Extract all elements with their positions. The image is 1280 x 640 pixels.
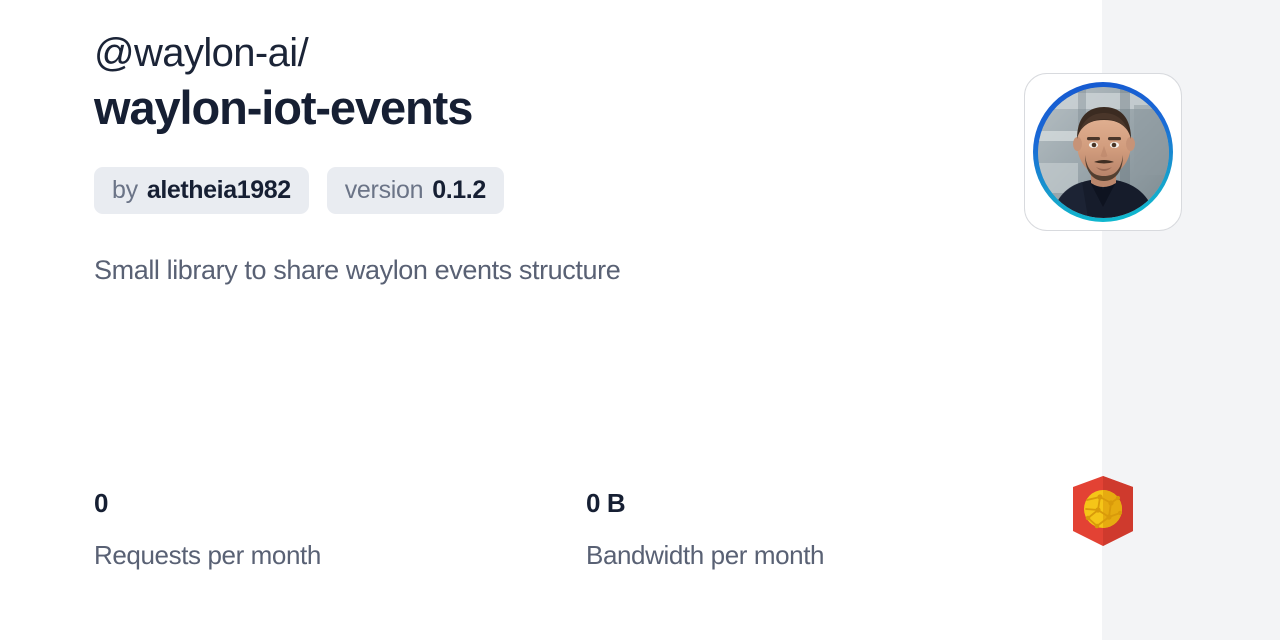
package-stats: 0 Requests per month 0 B Bandwidth per m…: [94, 487, 1078, 570]
package-scope: @waylon-ai/: [94, 30, 308, 76]
author-badge[interactable]: by aletheia1982: [94, 167, 309, 214]
stat-requests-per-month: 0 Requests per month: [94, 487, 586, 570]
jsdelivr-logo: [1073, 476, 1133, 546]
avatar-card: [1024, 73, 1182, 231]
version-badge-value: 0.1.2: [432, 176, 486, 205]
package-meta-badges: by aletheia1982 version 0.1.2: [94, 167, 504, 214]
stat-requests-label: Requests per month: [94, 540, 586, 570]
author-badge-value: aletheia1982: [147, 176, 291, 205]
version-badge-label: version: [345, 176, 424, 205]
avatar: [1038, 87, 1169, 218]
stat-requests-value: 0: [94, 487, 586, 519]
version-badge[interactable]: version 0.1.2: [327, 167, 504, 214]
package-summary: @waylon-ai/ waylon-iot-events by alethei…: [94, 0, 994, 640]
stat-bandwidth-per-month: 0 B Bandwidth per month: [586, 487, 1078, 570]
package-name: waylon-iot-events: [94, 79, 472, 137]
avatar-gradient-ring: [1033, 82, 1173, 222]
stat-bandwidth-value: 0 B: [586, 487, 1078, 519]
author-badge-label: by: [112, 176, 138, 205]
stat-bandwidth-label: Bandwidth per month: [586, 540, 1078, 570]
package-description: Small library to share waylon events str…: [94, 252, 620, 288]
